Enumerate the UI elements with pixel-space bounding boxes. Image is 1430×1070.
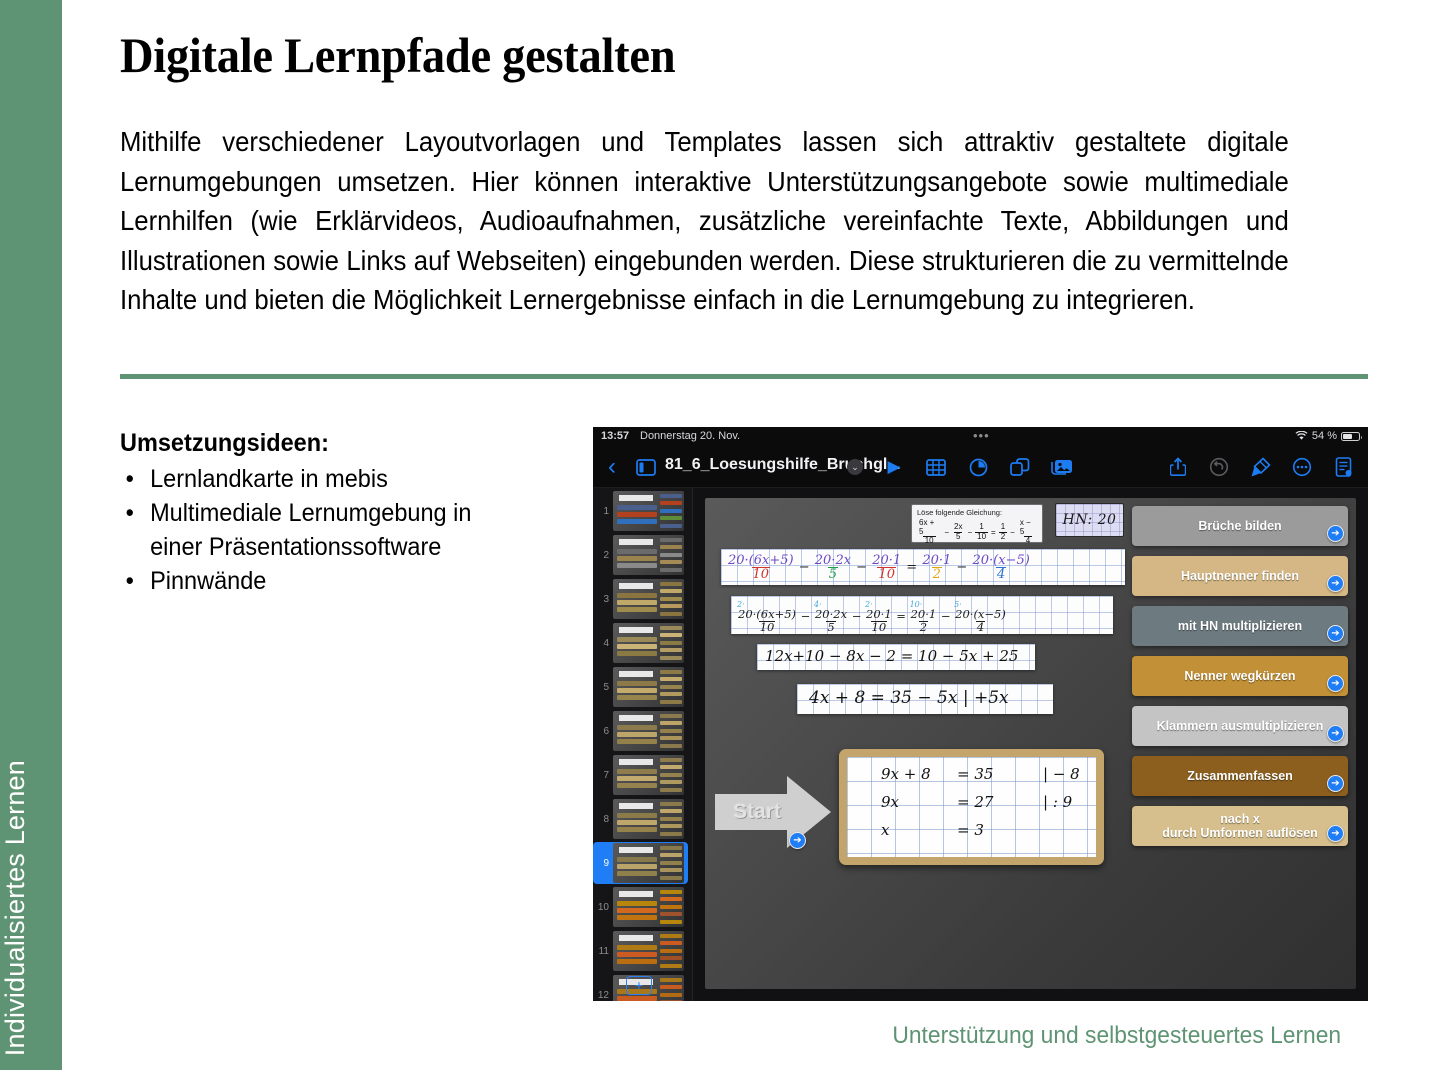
clock-icon[interactable] bbox=[965, 454, 991, 480]
answer-line-part: = 35 bbox=[957, 765, 993, 783]
status-date: Donnerstag 20. Nov. bbox=[640, 430, 740, 442]
fraction: 6x + 510 bbox=[917, 519, 941, 546]
bullet-glyph: • bbox=[126, 462, 134, 496]
arrow-link-icon[interactable]: ➔ bbox=[789, 832, 806, 849]
step-button-label: nach x durch Umformen auflösen bbox=[1162, 812, 1318, 840]
answer-line-part: 9x + 8 bbox=[881, 765, 931, 783]
fraction: 20·12 bbox=[921, 554, 952, 581]
step-button-label: Brüche bilden bbox=[1198, 519, 1281, 533]
slide-stage: Löse folgende Gleichung: 6x + 510−2x5−11… bbox=[705, 498, 1356, 989]
slide-number: 2 bbox=[593, 550, 613, 561]
answer-line-part: = 27 bbox=[957, 793, 993, 811]
start-label: Start bbox=[733, 800, 781, 824]
page-title: Digitale Lernpfade gestalten bbox=[120, 26, 675, 84]
fraction: 4·20·2x5 bbox=[814, 601, 848, 633]
more-icon[interactable] bbox=[1289, 454, 1315, 480]
arrow-link-icon[interactable]: ➔ bbox=[1327, 575, 1344, 592]
arrow-link-icon[interactable]: ➔ bbox=[1327, 525, 1344, 542]
step-button[interactable]: Zusammenfassen➔ bbox=[1132, 756, 1348, 796]
prompt-box: Löse folgende Gleichung: 6x + 510−2x5−11… bbox=[911, 504, 1043, 543]
fraction: x − 54 bbox=[1018, 519, 1038, 546]
shapes-icon[interactable] bbox=[1007, 454, 1033, 480]
slide-number: 9 bbox=[593, 858, 613, 869]
slide-number: 5 bbox=[593, 682, 613, 693]
bullet-glyph: • bbox=[126, 564, 134, 598]
operator: − bbox=[937, 609, 954, 623]
add-slide-button[interactable]: + bbox=[626, 976, 652, 995]
slide-thumbnail-2[interactable]: 2 bbox=[593, 534, 688, 576]
answer-line-part: = 3 bbox=[957, 821, 984, 839]
chevron-down-icon[interactable]: ⌄ bbox=[847, 459, 863, 475]
arrow-link-icon[interactable]: ➔ bbox=[1327, 625, 1344, 642]
answer-line-part: 9x bbox=[881, 793, 899, 811]
operator: − bbox=[952, 560, 971, 575]
fraction: 20·110 bbox=[871, 554, 902, 581]
slide-thumbnail-7[interactable]: 7 bbox=[593, 754, 688, 796]
step-button[interactable]: Klammern ausmultiplizieren➔ bbox=[1132, 706, 1348, 746]
operator: = bbox=[991, 528, 996, 537]
brush-icon[interactable] bbox=[1247, 454, 1273, 480]
battery-percent: 54 % bbox=[1312, 430, 1337, 442]
step-button-label: mit HN multiplizieren bbox=[1178, 619, 1302, 633]
list-item-label: Lernlandkarte in mebis bbox=[150, 465, 388, 493]
footer-text: Unterstützung und selbstgesteuertes Lern… bbox=[70, 1022, 1400, 1050]
thumbnail-preview bbox=[613, 623, 684, 663]
fraction: 5·20·(x−5)4 bbox=[954, 601, 1007, 633]
operator: = bbox=[902, 560, 921, 575]
slide-thumbnail-6[interactable]: 6 bbox=[593, 710, 688, 752]
operator: = bbox=[893, 609, 910, 623]
slide-thumbnail-8[interactable]: 8 bbox=[593, 798, 688, 840]
bullet-glyph: • bbox=[126, 496, 134, 530]
answer-line-part: | : 9 bbox=[1043, 793, 1072, 811]
slide-number: 3 bbox=[593, 594, 613, 605]
equation-row-1: 20·(6x+5)10 − 20·2x5 − 20·110 = 20·12 − … bbox=[721, 549, 1125, 585]
list-item: • Pinnwände bbox=[120, 564, 524, 598]
share-icon[interactable] bbox=[1165, 454, 1191, 480]
slide-thumbnail-3[interactable]: 3 bbox=[593, 578, 688, 620]
list-item-label: Pinnwände bbox=[150, 567, 266, 595]
fraction: 2·20·(6x+5)10 bbox=[737, 601, 797, 633]
battery-icon bbox=[1341, 432, 1360, 441]
answer-line-part: | − 8 bbox=[1043, 765, 1080, 783]
operator: − bbox=[944, 528, 949, 537]
operator: − bbox=[1010, 528, 1015, 537]
slide-canvas[interactable]: Löse folgende Gleichung: 6x + 510−2x5−11… bbox=[693, 488, 1368, 1001]
equation-row-4-text: 4x + 8 = 35 − 5x | +5x bbox=[809, 688, 1009, 708]
list-item: • Lernlandkarte in mebis bbox=[120, 462, 524, 496]
operator: − bbox=[967, 528, 972, 537]
step-button[interactable]: Hauptnenner finden➔ bbox=[1132, 556, 1348, 596]
ideas-block: Umsetzungsideen: • Lernlandkarte in mebi… bbox=[120, 426, 550, 598]
thumbnail-preview bbox=[613, 535, 684, 575]
ipad-status-bar: 13:57 Donnerstag 20. Nov. ••• 54 % bbox=[593, 427, 1368, 446]
body-paragraph: Mithilfe verschiedener Layoutvorlagen un… bbox=[120, 122, 1289, 320]
ideas-list: • Lernlandkarte in mebis • Multimediale … bbox=[120, 462, 550, 598]
answer-grid: 9x + 8= 35| − 89x= 27| : 9x= 3 bbox=[847, 757, 1096, 857]
step-button-stack[interactable]: Brüche bilden➔Hauptnenner finden➔mit HN … bbox=[1132, 506, 1348, 856]
step-button[interactable]: mit HN multiplizieren➔ bbox=[1132, 606, 1348, 646]
slide-thumbnail-1[interactable]: 1 bbox=[593, 490, 688, 532]
equation-row-3: 12x+10 − 8x − 2 = 10 − 5x + 25 bbox=[757, 644, 1035, 670]
document-title[interactable]: 81_6_Loesungshilfe_Bruchgl... bbox=[665, 456, 901, 474]
thumbnail-preview bbox=[613, 843, 684, 883]
step-button-label: Zusammenfassen bbox=[1187, 769, 1293, 783]
hauptnenner-box: HN: 20 bbox=[1055, 503, 1124, 537]
answer-card: 9x + 8= 35| − 89x= 27| : 9x= 3 bbox=[839, 749, 1104, 865]
prompt-caption: Löse folgende Gleichung: bbox=[917, 508, 1038, 517]
thumbnail-preview bbox=[613, 931, 684, 971]
status-right-cluster: 54 % bbox=[1295, 430, 1360, 442]
fraction: 110 bbox=[975, 523, 988, 541]
start-arrow[interactable]: Start ➔ bbox=[715, 774, 833, 850]
undo-icon[interactable] bbox=[1206, 454, 1232, 480]
slide-number: 8 bbox=[593, 814, 613, 825]
equation-row-3-text: 12x+10 − 8x − 2 = 10 − 5x + 25 bbox=[765, 647, 1018, 665]
slide-navigator[interactable]: 123456789101112 + bbox=[593, 488, 693, 1001]
notes-icon[interactable] bbox=[1331, 454, 1357, 480]
status-time: 13:57 bbox=[601, 430, 629, 442]
arrow-link-icon[interactable]: ➔ bbox=[1327, 675, 1344, 692]
thumbnail-preview bbox=[613, 887, 684, 927]
list-item: • Multimediale Lernumgebung in einer Prä… bbox=[120, 496, 524, 564]
thumbnail-preview bbox=[613, 667, 684, 707]
operator: − bbox=[852, 560, 871, 575]
fraction: 10·20·12 bbox=[910, 601, 938, 633]
ideas-heading: Umsetzungsideen: bbox=[120, 426, 524, 460]
hauptnenner-value: HN: 20 bbox=[1063, 512, 1117, 528]
slide-thumbnail-11[interactable]: 11 bbox=[593, 930, 688, 972]
fraction: 20·2x5 bbox=[814, 554, 852, 581]
slide-number: 11 bbox=[593, 946, 613, 957]
slide-number: 4 bbox=[593, 638, 613, 649]
fraction: 12 bbox=[999, 523, 1007, 541]
equation-row-2: 2·20·(6x+5)10 − 4·20·2x5 − 2·20·110 = 10… bbox=[731, 596, 1113, 634]
slide-number: 10 bbox=[593, 902, 613, 913]
side-band-label: Individualisiertes Lernen bbox=[0, 760, 62, 1056]
media-icon[interactable] bbox=[1049, 454, 1075, 480]
answer-line-part: x bbox=[881, 821, 889, 839]
operator: − bbox=[795, 560, 814, 575]
multitask-dots-icon[interactable]: ••• bbox=[973, 428, 990, 443]
back-button[interactable]: ‹ bbox=[599, 454, 625, 480]
operator: − bbox=[797, 609, 814, 623]
step-button[interactable]: Brüche bilden➔ bbox=[1132, 506, 1348, 546]
slide-thumbnail-9[interactable]: 9 bbox=[593, 842, 688, 884]
side-band: Individualisiertes Lernen bbox=[0, 0, 62, 1070]
slide-number: 1 bbox=[593, 506, 613, 517]
slide-number: 7 bbox=[593, 770, 613, 781]
ipad-screenshot: 13:57 Donnerstag 20. Nov. ••• 54 % ‹ 81_… bbox=[593, 427, 1368, 1001]
equation-row-4: 4x + 8 = 35 − 5x | +5x bbox=[797, 684, 1053, 714]
step-button-label: Klammern ausmultiplizieren bbox=[1157, 719, 1324, 733]
step-button[interactable]: nach x durch Umformen auflösen➔ bbox=[1132, 806, 1348, 846]
arrow-link-icon[interactable]: ➔ bbox=[1327, 775, 1344, 792]
prompt-equation: 6x + 510−2x5−110=12−x − 54 bbox=[917, 519, 1038, 546]
slide-number: 6 bbox=[593, 726, 613, 737]
table-icon[interactable] bbox=[923, 454, 949, 480]
slide-thumbnail-4[interactable]: 4 bbox=[593, 622, 688, 664]
slide-number: 12 bbox=[593, 990, 613, 1001]
step-button-label: Hauptnenner finden bbox=[1181, 569, 1299, 583]
fraction: 2x5 bbox=[952, 523, 964, 541]
thumbnail-preview bbox=[613, 491, 684, 531]
list-item-label: Multimediale Lernumgebung in einer Präse… bbox=[150, 499, 471, 561]
step-button-label: Nenner wegkürzen bbox=[1184, 669, 1295, 683]
slide-root: Individualisiertes Lernen Digitale Lernp… bbox=[0, 0, 1430, 1070]
wifi-icon bbox=[1295, 431, 1308, 441]
thumbnail-preview bbox=[613, 579, 684, 619]
arrow-link-icon[interactable]: ➔ bbox=[1327, 725, 1344, 742]
slide-thumbnail-5[interactable]: 5 bbox=[593, 666, 688, 708]
sidebar-icon[interactable] bbox=[633, 454, 659, 480]
arrow-link-icon[interactable]: ➔ bbox=[1327, 825, 1344, 842]
divider bbox=[120, 374, 1368, 379]
ipad-toolbar: ‹ 81_6_Loesungshilfe_Bruchgl... ⌄ ▶ bbox=[593, 446, 1368, 488]
play-button[interactable]: ▶ bbox=[881, 454, 907, 480]
step-button[interactable]: Nenner wegkürzen➔ bbox=[1132, 656, 1348, 696]
operator: − bbox=[848, 609, 865, 623]
thumbnail-preview bbox=[613, 799, 684, 839]
thumbnail-preview bbox=[613, 711, 684, 751]
fraction: 20·(x−5)4 bbox=[971, 554, 1030, 581]
slide-thumbnail-10[interactable]: 10 bbox=[593, 886, 688, 928]
fraction: 2·20·110 bbox=[865, 601, 893, 633]
fraction: 20·(6x+5)10 bbox=[727, 554, 795, 581]
thumbnail-preview bbox=[613, 755, 684, 795]
